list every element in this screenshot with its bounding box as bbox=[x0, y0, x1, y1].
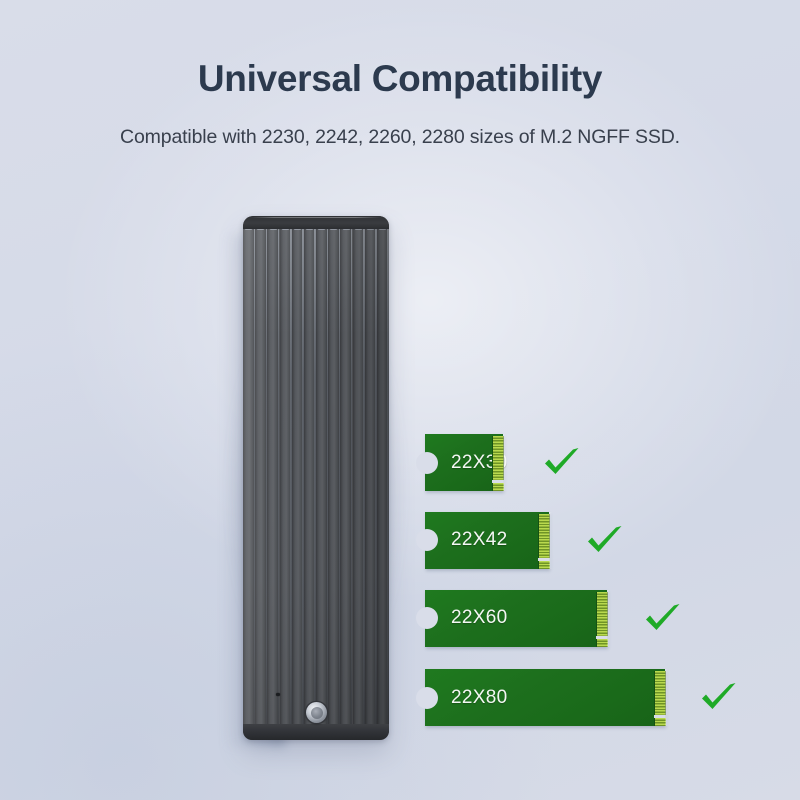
mounting-notch-icon bbox=[416, 607, 438, 629]
heatsink-fin bbox=[340, 227, 352, 726]
ssd-size-label: 22X80 bbox=[451, 669, 507, 726]
ssd-size-label: 22X42 bbox=[451, 512, 507, 569]
board-edge-highlight bbox=[549, 512, 552, 569]
board-edge-highlight bbox=[503, 434, 506, 491]
status-led-icon bbox=[276, 693, 280, 697]
mounting-notch-icon bbox=[416, 452, 438, 474]
ssd-enclosure bbox=[243, 216, 389, 742]
heatsink-fin bbox=[365, 227, 377, 726]
mounting-notch-icon bbox=[416, 529, 438, 551]
heatsink-fin bbox=[280, 227, 292, 726]
compatibility-list: 22X3022X4222X6022X80 bbox=[425, 434, 755, 744]
green-check-icon bbox=[583, 518, 627, 562]
heatsink-fin bbox=[292, 227, 304, 726]
header: Universal Compatibility Compatible with … bbox=[0, 0, 800, 148]
heatsink-fin bbox=[353, 227, 365, 726]
heatsink-fin bbox=[316, 227, 328, 726]
heatsink-fin bbox=[304, 227, 316, 726]
enclosure-top-highlight bbox=[250, 217, 382, 218]
heatsink-fin bbox=[328, 227, 340, 726]
green-check-icon bbox=[697, 675, 741, 719]
bottom-screw-icon bbox=[306, 702, 327, 723]
board-edge-highlight bbox=[607, 590, 610, 647]
board-edge-highlight bbox=[665, 669, 668, 726]
heatsink-fin bbox=[243, 227, 255, 726]
page-title: Universal Compatibility bbox=[0, 0, 800, 97]
page-subtitle: Compatible with 2230, 2242, 2260, 2280 s… bbox=[0, 97, 800, 148]
heatsink-fins bbox=[243, 227, 389, 726]
ssd-size-label: 22X60 bbox=[451, 590, 507, 647]
enclosure-bottom-edge bbox=[243, 724, 389, 740]
green-check-icon bbox=[641, 596, 685, 640]
heatsink-fin bbox=[267, 227, 279, 726]
heatsink-fin bbox=[377, 227, 389, 726]
mounting-notch-icon bbox=[416, 687, 438, 709]
product-feature-banner: Universal Compatibility Compatible with … bbox=[0, 0, 800, 800]
enclosure-body bbox=[243, 216, 389, 740]
enclosure-top-edge bbox=[243, 216, 389, 229]
heatsink-fin bbox=[255, 227, 267, 726]
green-check-icon bbox=[540, 440, 584, 484]
